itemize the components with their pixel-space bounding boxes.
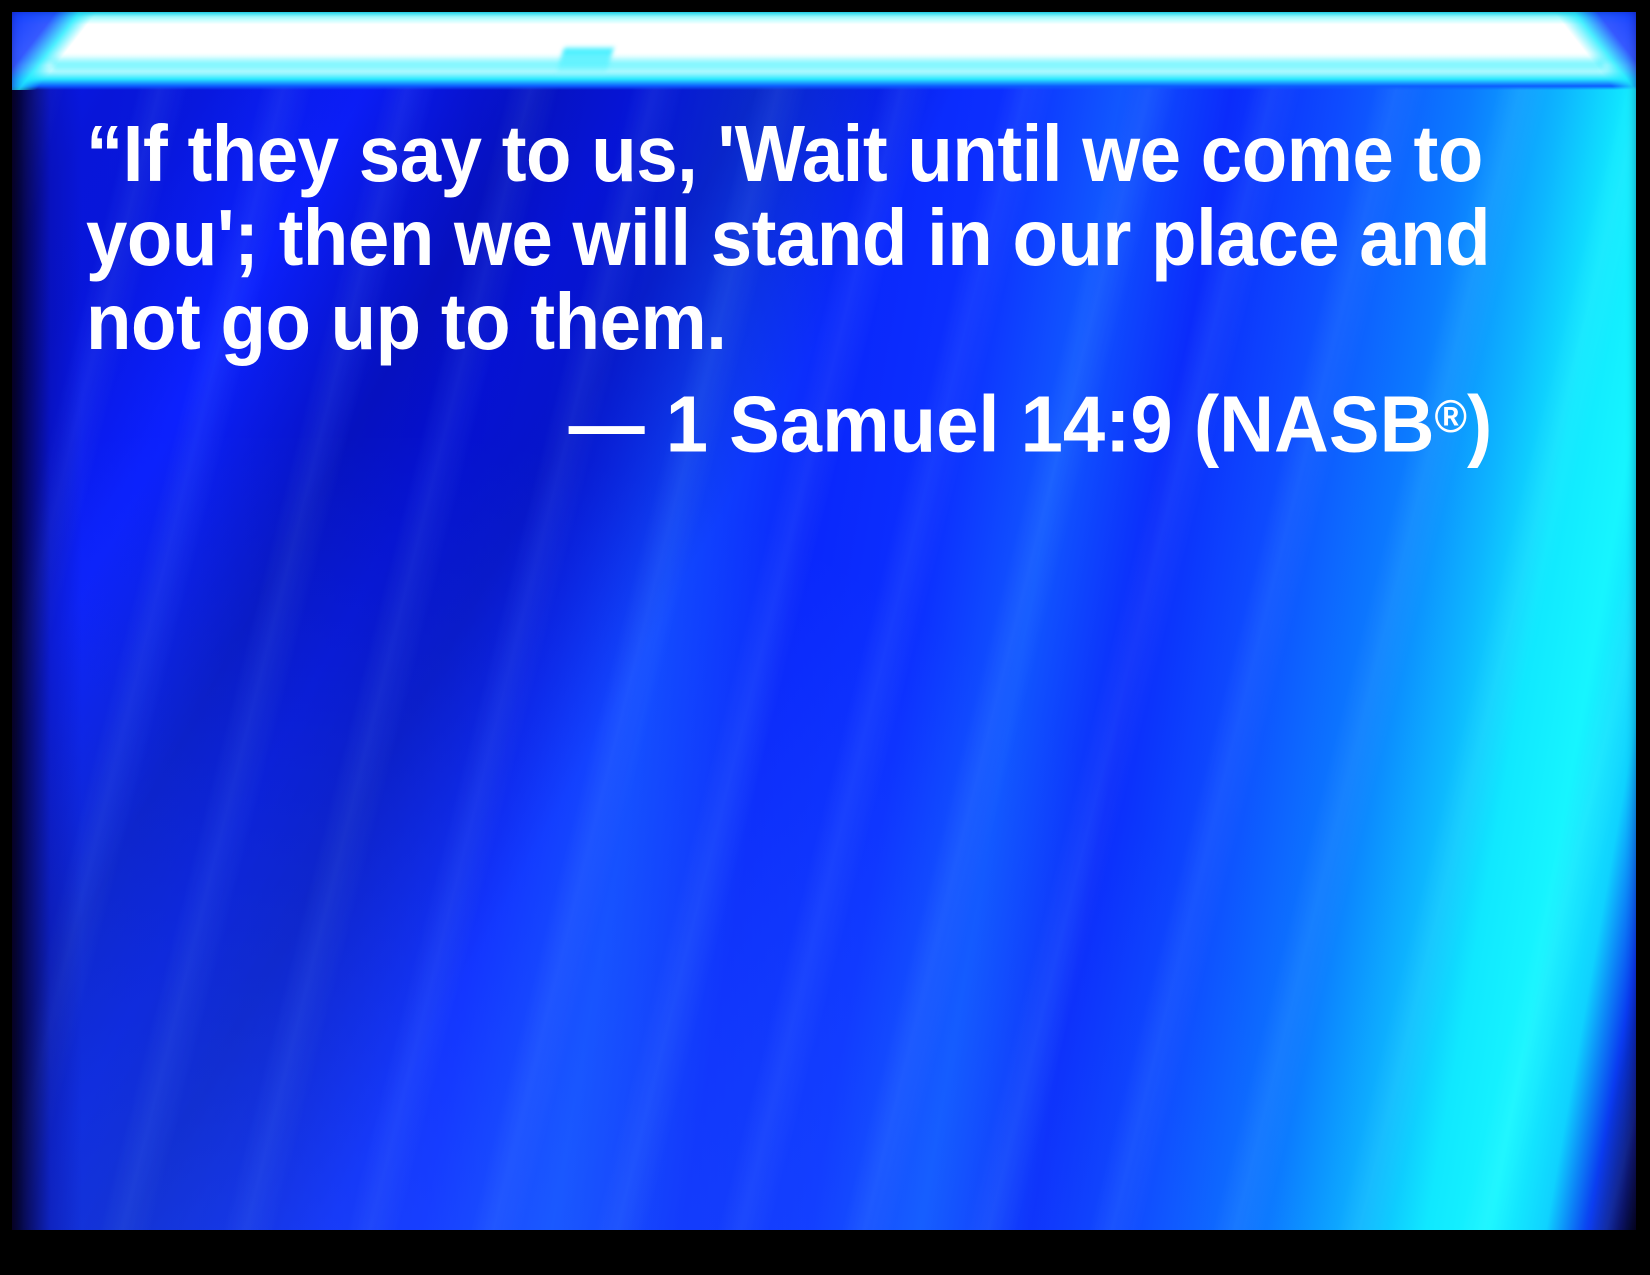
bible-verse-slide: “If they say to us, 'Wait until we come … [0, 0, 1650, 1275]
citation-inner: — 1 Samuel 14:9 (NASB®) [568, 374, 1492, 466]
citation-spacer-2 [1172, 379, 1193, 468]
background-left-edge-shadow [12, 12, 82, 1230]
verse-line-3: not go up to them. [86, 280, 1397, 364]
citation-spacer [644, 379, 665, 468]
banner-notch-accent [556, 48, 613, 74]
banner-left-bevel [12, 12, 98, 90]
banner-cyan-streak [52, 58, 1604, 72]
citation-dash: — [568, 379, 644, 468]
banner-glow [12, 12, 1638, 90]
banner-right-bevel [1554, 12, 1638, 90]
citation-translation: NASB [1219, 379, 1434, 468]
citation-open-paren: ( [1194, 379, 1219, 468]
citation-reference: 1 Samuel 14:9 [665, 379, 1172, 468]
registered-trademark-icon: ® [1434, 390, 1466, 442]
verse-line-2: you'; then we will stand in our place an… [86, 196, 1397, 280]
verse-text-block: “If they say to us, 'Wait until we come … [86, 112, 1496, 466]
background-light-wash [12, 438, 1313, 1230]
citation-close-paren: ) [1467, 379, 1492, 468]
verse-line-1: “If they say to us, 'Wait until we come … [86, 112, 1397, 196]
top-banner [12, 12, 1638, 90]
verse-citation: — 1 Samuel 14:9 (NASB®) [86, 374, 1496, 466]
